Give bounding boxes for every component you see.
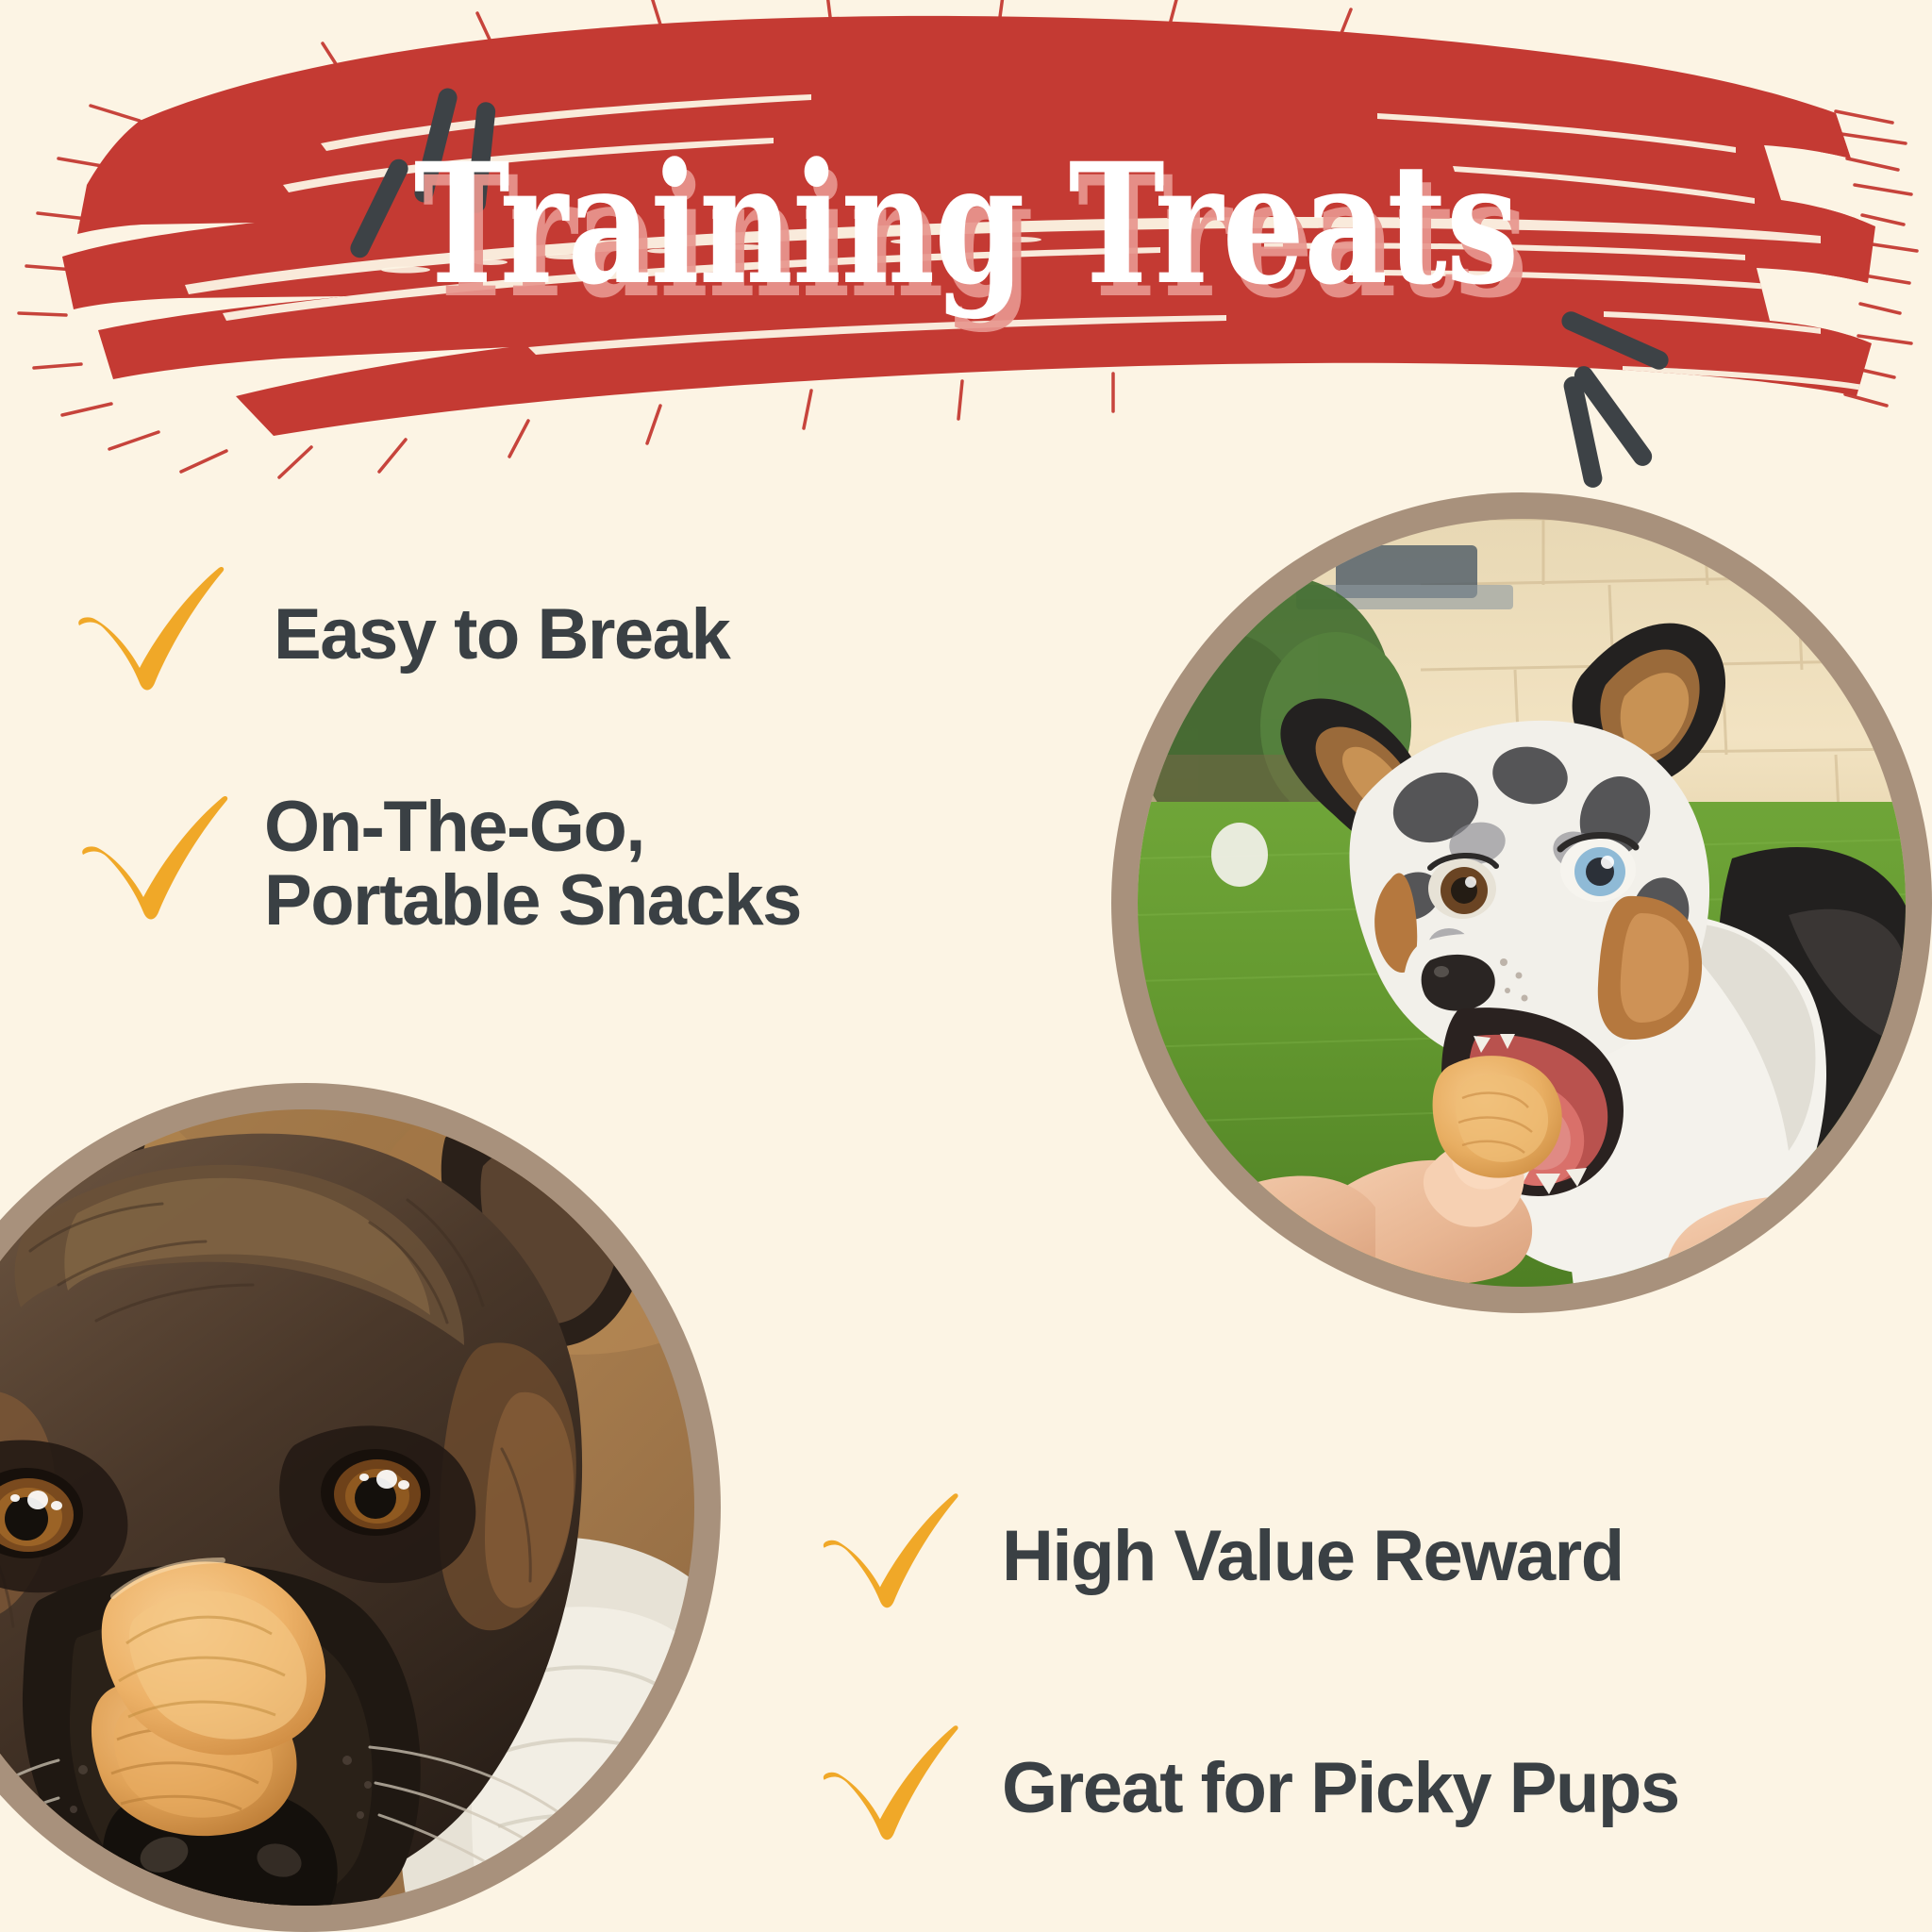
feature-high-value-reward: High Value Reward bbox=[819, 1491, 1624, 1623]
photo-collie-catching-treat bbox=[1111, 492, 1932, 1313]
photo-shepherd-image bbox=[0, 1109, 694, 1906]
check-icon bbox=[77, 793, 232, 935]
check-icon bbox=[819, 1491, 962, 1623]
feature-picky-pups: Great for Picky Pups bbox=[819, 1723, 1679, 1855]
brush-bristles bbox=[19, 0, 1917, 477]
brush-stroke-graphic bbox=[0, 0, 1932, 528]
feature-label: Easy to Break bbox=[274, 598, 729, 672]
feature-label: On-The-Go, Portable Snacks bbox=[264, 791, 801, 937]
brush-body bbox=[0, 0, 1932, 528]
page-title: Training Treats bbox=[212, 142, 1719, 308]
accent-dashes-right bbox=[1558, 308, 1672, 490]
feature-label: Great for Picky Pups bbox=[1002, 1752, 1679, 1825]
feature-on-the-go: On-The-Go, Portable Snacks bbox=[77, 791, 801, 937]
feature-label: High Value Reward bbox=[1002, 1520, 1624, 1593]
photo-shepherd-treat-on-nose bbox=[0, 1083, 721, 1932]
poster-canvas: Training Treats bbox=[0, 0, 1932, 1932]
check-icon bbox=[74, 564, 228, 706]
feature-easy-to-break: Easy to Break bbox=[74, 564, 729, 706]
check-icon bbox=[819, 1723, 962, 1855]
header-banner: Training Treats bbox=[0, 0, 1932, 528]
accent-dashes-left bbox=[347, 86, 496, 260]
photo-collie-image bbox=[1138, 519, 1906, 1287]
